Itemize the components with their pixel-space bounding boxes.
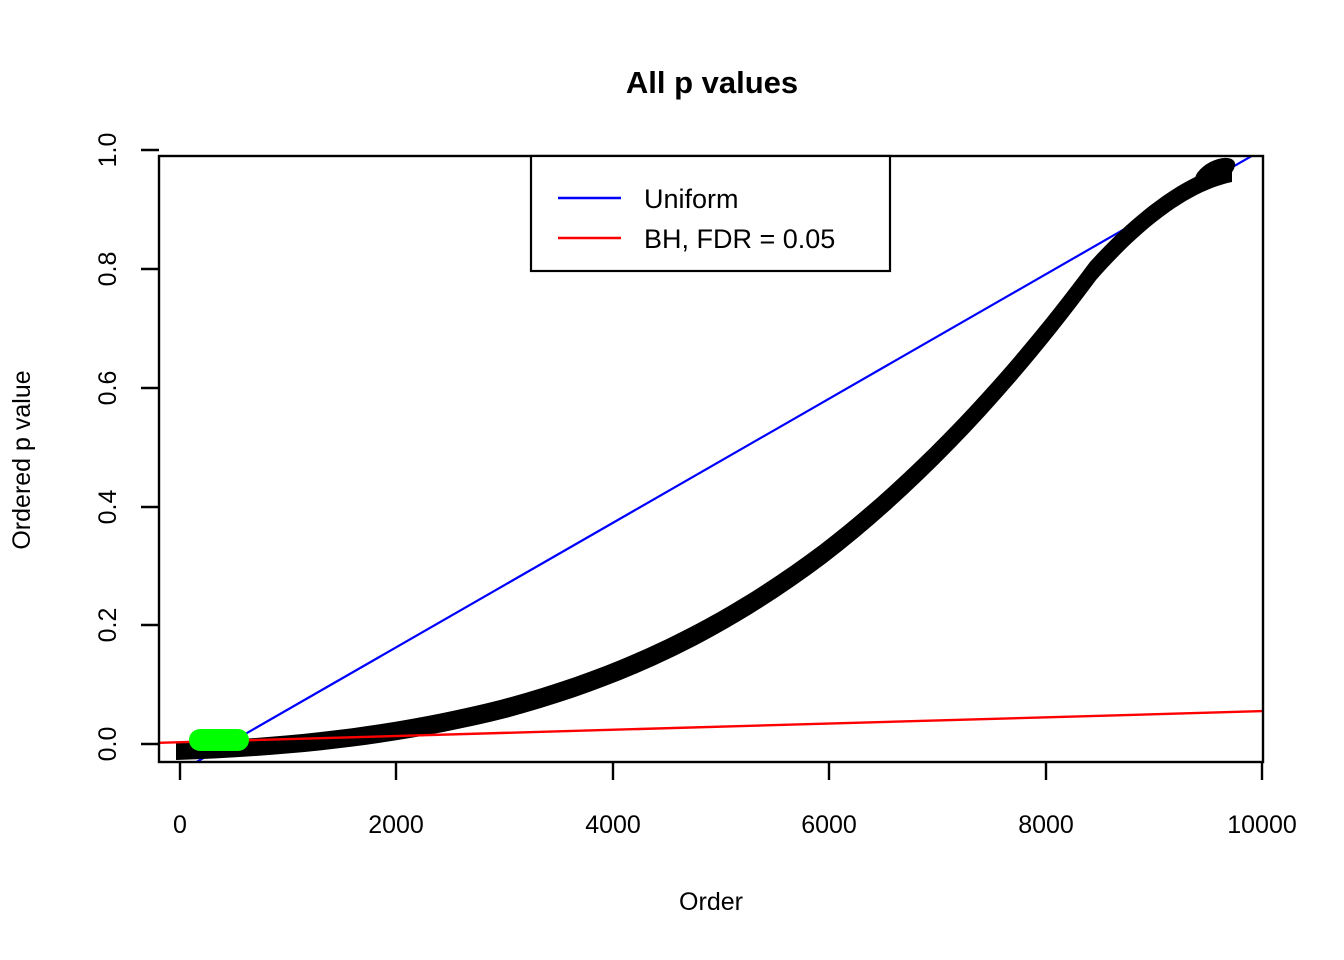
x-axis-label: Order bbox=[679, 888, 743, 916]
legend-label-bh: BH, FDR = 0.05 bbox=[644, 224, 835, 254]
x-tick-label-2000: 2000 bbox=[368, 811, 424, 839]
legend-label-uniform: Uniform bbox=[644, 184, 739, 214]
x-tick-label-8000: 8000 bbox=[1018, 811, 1074, 839]
y-tick-label-0.0: 0.0 bbox=[94, 727, 122, 762]
x-tick-label-6000: 6000 bbox=[801, 811, 857, 839]
x-tick-label-0: 0 bbox=[173, 811, 187, 839]
legend: Uniform BH, FDR = 0.05 bbox=[531, 156, 890, 271]
canvas-background bbox=[0, 0, 1344, 960]
x-tick-label-4000: 4000 bbox=[585, 811, 641, 839]
y-tick-label-0.6: 0.6 bbox=[94, 371, 122, 406]
y-tick-label-1.0: 1.0 bbox=[94, 133, 122, 168]
x-tick-label-10000: 10000 bbox=[1227, 811, 1297, 839]
significant-points-highlight bbox=[189, 729, 249, 751]
chart-title: All p values bbox=[626, 65, 798, 100]
y-axis-label: Ordered p value bbox=[8, 370, 36, 549]
plot-canvas: All p values bbox=[0, 0, 1344, 960]
chart-container: All p values bbox=[0, 0, 1344, 960]
y-tick-label-0.8: 0.8 bbox=[94, 252, 122, 287]
y-tick-label-0.4: 0.4 bbox=[94, 490, 122, 525]
y-tick-label-0.2: 0.2 bbox=[94, 608, 122, 643]
